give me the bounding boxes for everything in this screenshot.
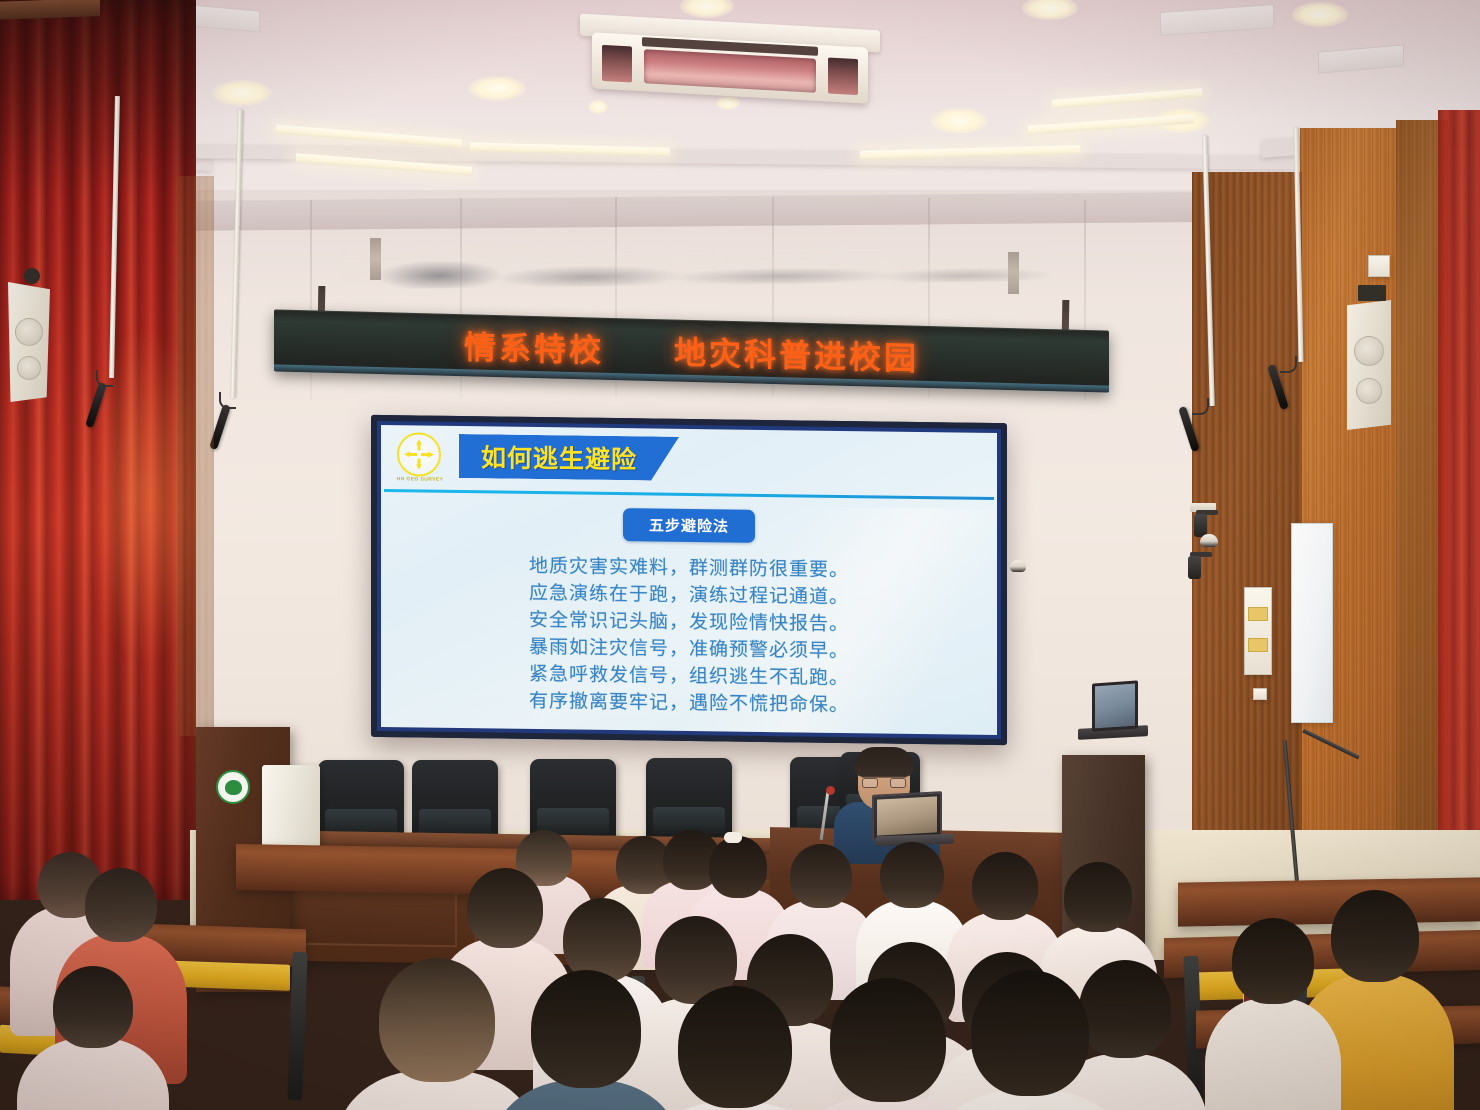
speaker-cone <box>17 356 41 380</box>
desk-frame-left-2 <box>287 952 307 1100</box>
ceiling-air-conditioner <box>580 14 880 109</box>
ink-wash-landscape-painting <box>340 239 1050 290</box>
person-head <box>709 836 767 898</box>
person-head <box>379 958 495 1082</box>
person-head <box>1331 890 1419 982</box>
downlight-5 <box>930 108 988 134</box>
slide-header: HN GEO SURVEY 如何逃生避险 <box>381 425 997 499</box>
wall-switch-plate[interactable] <box>1253 688 1267 700</box>
person-head <box>830 978 946 1102</box>
notice-sticker-2 <box>1248 638 1268 652</box>
person-head <box>53 966 133 1048</box>
person-head <box>1232 918 1314 1004</box>
downlight-2 <box>468 76 526 101</box>
person-head <box>790 844 852 908</box>
person-head <box>678 986 792 1108</box>
person-head <box>971 970 1089 1096</box>
wall-speaker-right <box>1347 300 1391 430</box>
downlight-7 <box>1292 2 1348 27</box>
presenter-glasses-icon <box>862 776 906 785</box>
speaker-cone <box>15 318 43 346</box>
downlight-8 <box>588 100 608 114</box>
person-torso <box>1205 998 1341 1110</box>
stage-curtain-right <box>1438 110 1480 910</box>
speaker-bracket-right <box>1358 285 1386 301</box>
person-torso <box>17 1038 169 1110</box>
emblem-inner-mark <box>225 780 242 795</box>
slide-title: 如何逃生避险 <box>481 438 637 476</box>
led-banner-text: 情系特校 地灾科普进校园 <box>464 322 919 380</box>
lecture-hall-photo: 情系特校 地灾科普进校园 HN GEO SURVEY 如何逃生避险 五步避险法 <box>0 0 1480 1110</box>
slide-content: HN GEO SURVEY 如何逃生避险 五步避险法 地质灾害实难料，群测群防很… <box>381 425 997 735</box>
glasses-lens-left <box>862 778 878 788</box>
hair-bow <box>724 832 742 843</box>
painting-hook-right <box>1008 252 1019 294</box>
whiteboard <box>1291 523 1333 723</box>
dome-camera <box>1200 534 1218 547</box>
audience-area <box>0 830 1480 1110</box>
control-monitor[interactable] <box>1092 680 1138 731</box>
ac-vent-center <box>644 49 816 93</box>
audience-person <box>18 966 168 1110</box>
painting-hook-left <box>370 238 381 280</box>
person-head <box>467 868 543 948</box>
slide-verse-block: 地质灾害实难料，群测群防很重要。 应急演练在于跑，演练过程记通道。 安全常识记头… <box>381 551 997 721</box>
logo-caption: HN GEO SURVEY <box>395 476 445 483</box>
person-head <box>880 842 944 908</box>
dome-camera-screen-edge <box>1010 560 1026 572</box>
person-head <box>531 970 641 1088</box>
audience-person <box>930 970 1130 1110</box>
security-camera-2 <box>1188 556 1201 579</box>
slide-subtitle-pill: 五步避险法 <box>623 508 755 543</box>
ac-vent-right <box>828 57 858 95</box>
speaker-cone <box>1354 336 1384 366</box>
audience-person <box>1208 918 1338 1110</box>
wood-paneling-right-inner <box>1300 128 1396 898</box>
ac-vent-left <box>602 45 632 83</box>
presenter-hair <box>854 747 914 777</box>
speaker-cone <box>1356 378 1382 404</box>
person-head <box>972 852 1038 920</box>
left-wall-return <box>178 176 214 736</box>
person-head <box>1064 862 1132 932</box>
slide-title-banner: 如何逃生避险 <box>459 434 679 481</box>
downlight-1 <box>212 80 272 106</box>
presentation-screen[interactable]: HN GEO SURVEY 如何逃生避险 五步避险法 地质灾害实难料，群测群防很… <box>371 415 1007 745</box>
school-emblem <box>216 770 250 804</box>
glasses-lens-right <box>890 778 906 788</box>
speaker-bracket-left <box>24 268 40 284</box>
person-head <box>85 868 157 942</box>
notice-sticker-1 <box>1248 607 1268 621</box>
wall-speaker-left <box>8 282 50 402</box>
wall-notice-panel <box>1244 587 1272 675</box>
wall-ac-panel <box>1368 255 1390 277</box>
table-microphone-head <box>826 786 835 795</box>
logo-ring <box>397 432 441 477</box>
geological-hazard-logo-icon: HN GEO SURVEY <box>397 432 441 477</box>
